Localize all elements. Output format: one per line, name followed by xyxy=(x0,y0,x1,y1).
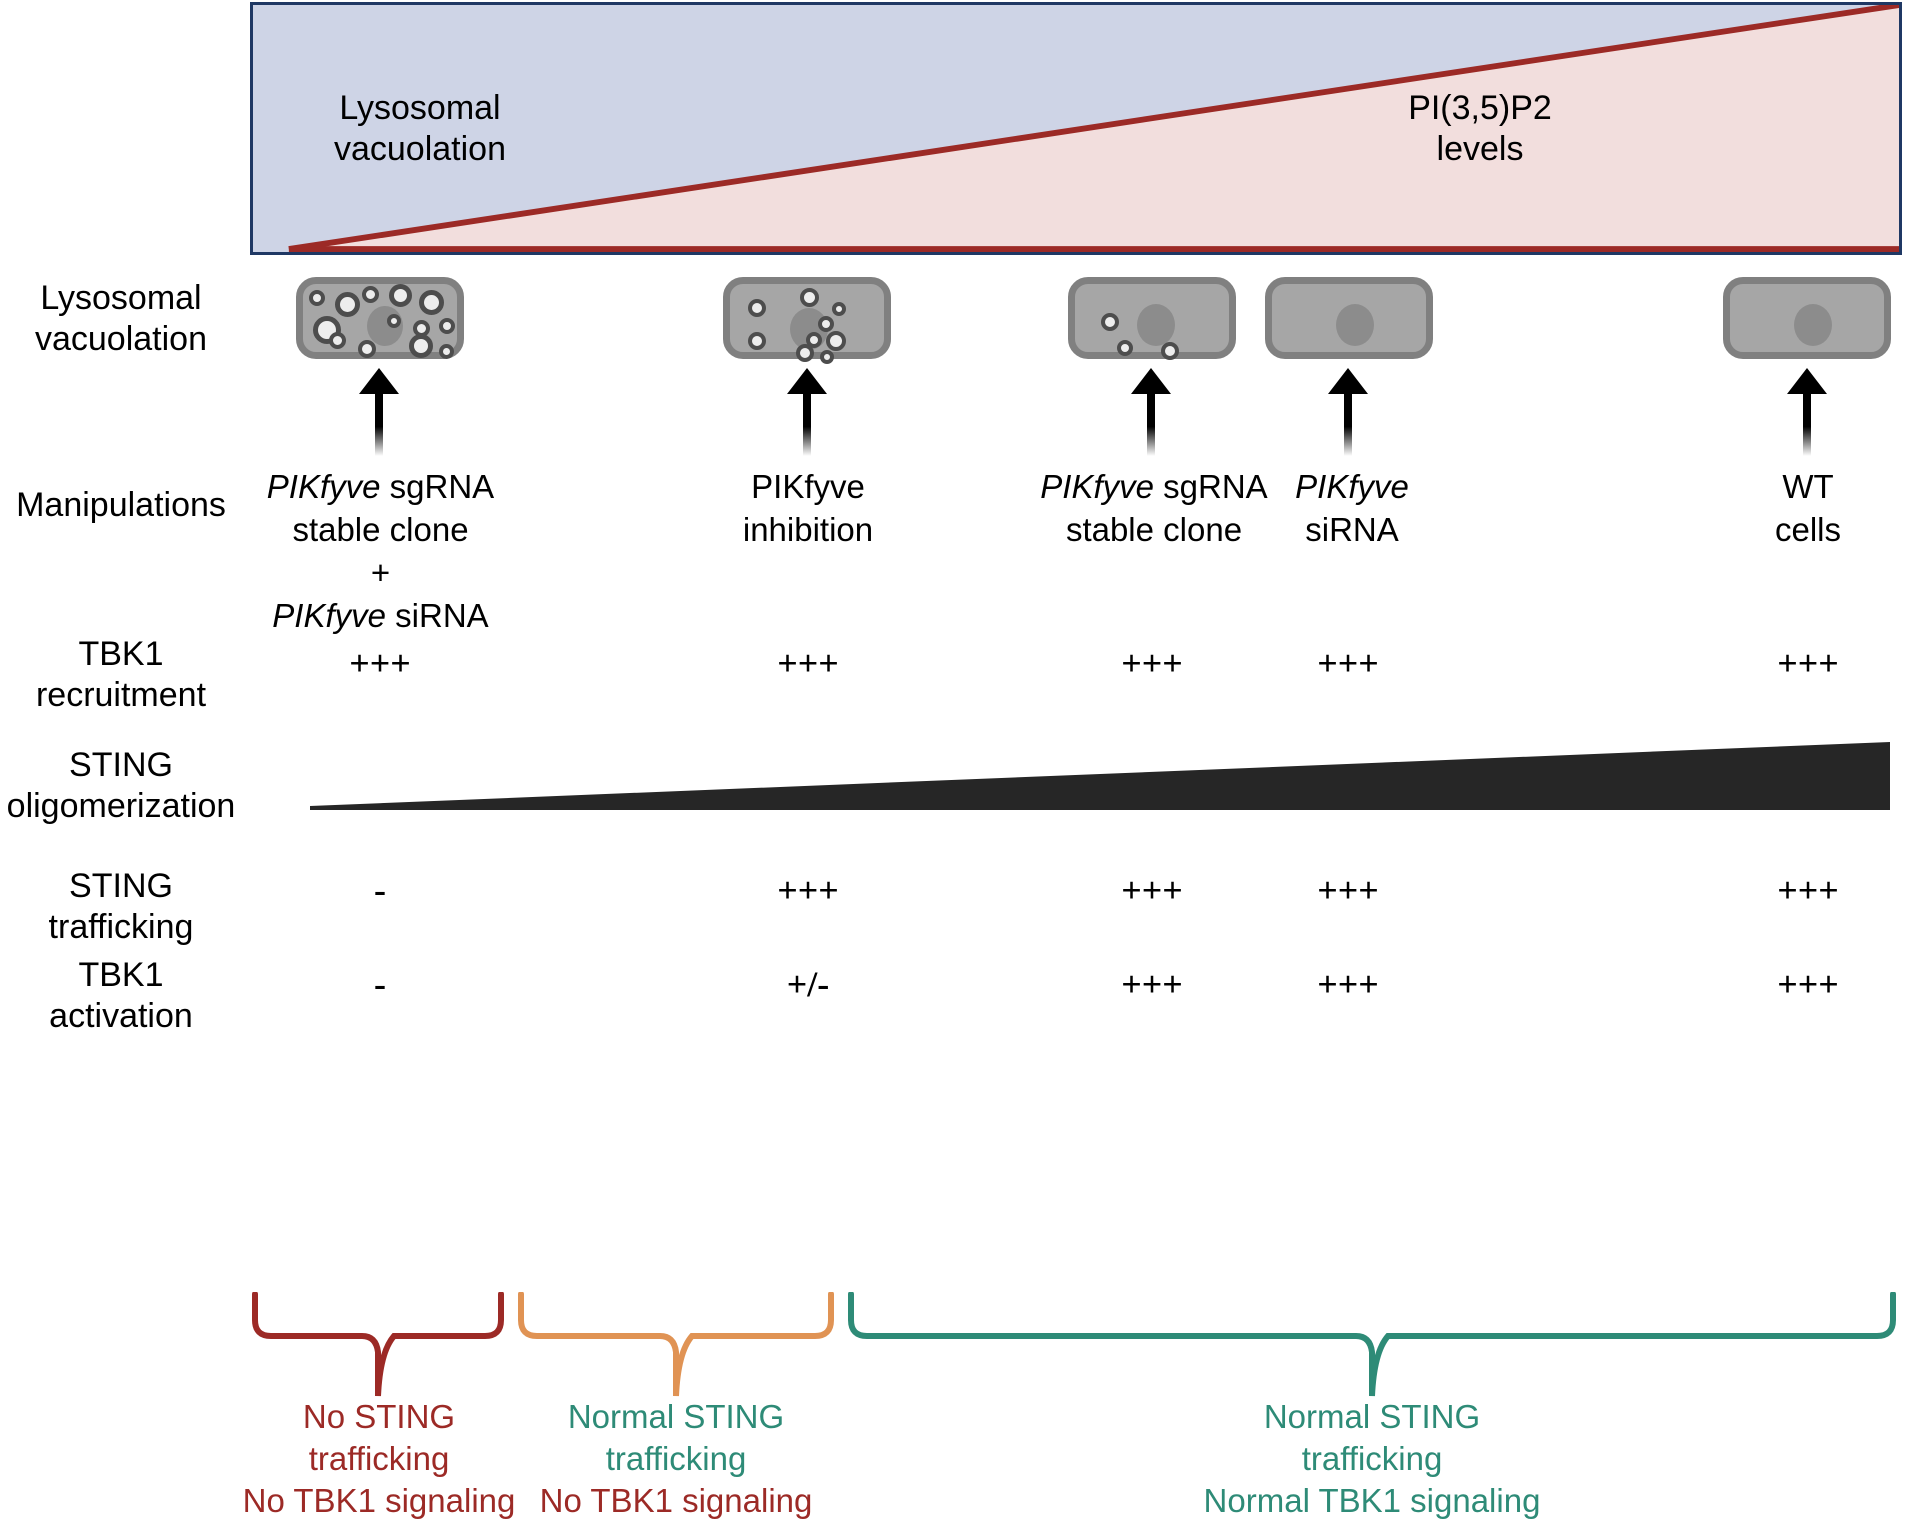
manipulation-label-col1: PIKfyve sgRNAstable clone+PIKfyve siRNA xyxy=(258,466,503,638)
vacuole-icon xyxy=(1117,340,1133,356)
tbk1-activation-col4: +++ xyxy=(1286,966,1410,1002)
summary-caption-3: Normal STING trafficking Normal TBK1 sig… xyxy=(1196,1396,1548,1523)
cell-diagram-col3 xyxy=(1068,277,1236,359)
arrow-up-col5 xyxy=(1785,368,1829,456)
vacuole-icon xyxy=(826,331,846,351)
nucleus-icon xyxy=(1794,304,1832,346)
sting-oligomerization-wedge xyxy=(310,742,1890,810)
tbk1-recruitment-col3: +++ xyxy=(1090,645,1214,681)
row-label-lysosomal-vacuolation: Lysosomal vacuolation xyxy=(6,278,236,360)
sting-trafficking-col3: +++ xyxy=(1090,872,1214,908)
summary1-line2: No TBK1 signaling xyxy=(232,1480,526,1522)
row-label-tbk1-activation: TBK1 activation xyxy=(6,955,236,1037)
arrow-up-col4 xyxy=(1326,368,1370,456)
vacuole-icon xyxy=(818,316,834,332)
tbk1-recruitment-col5: +++ xyxy=(1746,645,1870,681)
sting-trafficking-col4: +++ xyxy=(1286,872,1410,908)
sting-trafficking-col2: +++ xyxy=(746,872,870,908)
vacuole-icon xyxy=(439,344,454,359)
manipulation-label-col4: PIKfyvesiRNA xyxy=(1262,466,1442,552)
sting-trafficking-col1: - xyxy=(318,872,442,908)
vacuole-icon xyxy=(439,318,455,334)
arrow-up-col3 xyxy=(1129,368,1173,456)
row-label-manipulations: Manipulations xyxy=(6,485,236,526)
gradient-left-label: Lysosomal vacuolation xyxy=(255,88,585,171)
summary-caption-2: Normal STING trafficking No TBK1 signali… xyxy=(500,1396,852,1523)
summary3-line2: Normal TBK1 signaling xyxy=(1196,1480,1548,1522)
summary3-line1: Normal STING trafficking xyxy=(1196,1396,1548,1480)
tbk1-activation-col1: - xyxy=(318,966,442,1002)
summary1-line1: No STING trafficking xyxy=(232,1396,526,1480)
brace-summary2 xyxy=(516,1292,836,1402)
manipulation-label-col5: WTcells xyxy=(1718,466,1898,552)
vacuole-icon xyxy=(309,290,325,306)
row-label-sting-oligomerization: STING oligomerization xyxy=(6,745,236,827)
vacuole-icon xyxy=(800,288,819,307)
vacuole-icon xyxy=(832,302,846,316)
vacuole-icon xyxy=(820,350,834,364)
vacuole-icon xyxy=(748,299,766,317)
cell-diagram-col2 xyxy=(723,277,891,359)
cell-diagram-col5 xyxy=(1723,277,1891,359)
brace-summary3 xyxy=(846,1292,1898,1402)
arrow-up-col2 xyxy=(785,368,829,456)
vacuole-icon xyxy=(419,290,444,315)
tbk1-recruitment-col4: +++ xyxy=(1286,645,1410,681)
vacuole-icon xyxy=(335,292,360,317)
vacuole-icon xyxy=(1161,342,1179,360)
cell-diagram-col1 xyxy=(296,277,464,359)
vacuole-icon xyxy=(362,286,379,303)
vacuole-icon xyxy=(389,284,412,307)
summary-caption-1: No STING trafficking No TBK1 signaling xyxy=(232,1396,526,1523)
row-label-sting-trafficking: STING trafficking xyxy=(6,866,236,948)
vacuole-icon xyxy=(358,340,376,358)
figure-canvas: Lysosomal vacuolation PI(3,5)P2 levels L… xyxy=(0,0,1906,1495)
nucleus-icon xyxy=(1336,304,1374,346)
vacuole-icon xyxy=(387,314,401,328)
brace-summary1 xyxy=(250,1292,506,1402)
vacuole-icon xyxy=(329,332,346,349)
summary2-line1: Normal STING trafficking xyxy=(500,1396,852,1480)
arrow-up-col1 xyxy=(357,368,401,456)
cell-diagram-col4 xyxy=(1265,277,1433,359)
vacuole-icon xyxy=(796,344,814,362)
row-label-tbk1-recruitment: TBK1 recruitment xyxy=(6,634,236,716)
sting-trafficking-col5: +++ xyxy=(1746,872,1870,908)
tbk1-activation-col2: +/- xyxy=(746,966,870,1002)
manipulation-label-col3: PIKfyve sgRNAstable clone xyxy=(1030,466,1278,552)
tbk1-recruitment-col2: +++ xyxy=(746,645,870,681)
gradient-right-label: PI(3,5)P2 levels xyxy=(1310,88,1650,171)
summary2-line2: No TBK1 signaling xyxy=(500,1480,852,1522)
vacuole-icon xyxy=(409,334,433,358)
nucleus-icon xyxy=(1137,304,1175,346)
vacuole-icon xyxy=(1101,313,1119,331)
manipulation-label-col2: PIKfyveinhibition xyxy=(690,466,926,552)
tbk1-activation-col5: +++ xyxy=(1746,966,1870,1002)
tbk1-recruitment-col1: +++ xyxy=(318,645,442,681)
vacuole-icon xyxy=(748,332,766,350)
tbk1-activation-col3: +++ xyxy=(1090,966,1214,1002)
